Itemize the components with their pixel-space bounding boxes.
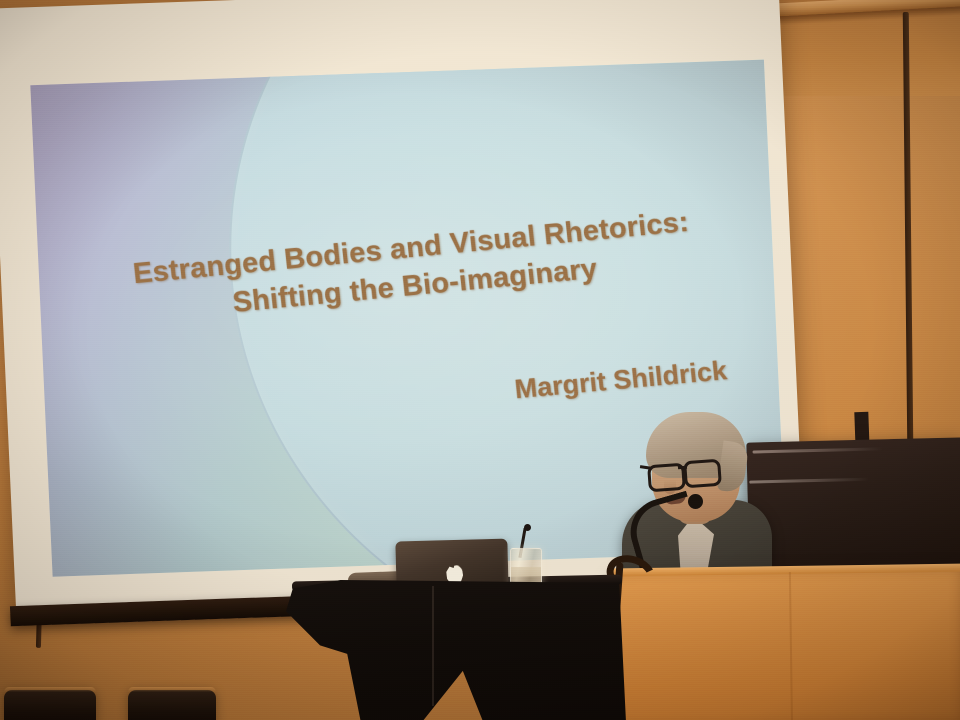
presentation-photo-scene: Estranged Bodies and Visual Rhetorics: S…: [0, 0, 960, 720]
chair-rim: [4, 687, 96, 692]
table-drape-fold: [432, 586, 434, 706]
presenter-hair-side: [717, 440, 750, 493]
glasses-temple: [640, 465, 652, 470]
table-microphone-tip: [524, 524, 531, 531]
podium-panel-seam: [789, 572, 793, 720]
glasses-right-lens: [683, 459, 722, 489]
wooden-podium: [609, 569, 960, 720]
gooseneck-microphone-head: [688, 494, 703, 509]
glasses-bridge: [678, 466, 687, 470]
chair-back-1: [4, 690, 96, 720]
chair-rim: [128, 687, 216, 692]
chair-back-2: [128, 690, 216, 720]
